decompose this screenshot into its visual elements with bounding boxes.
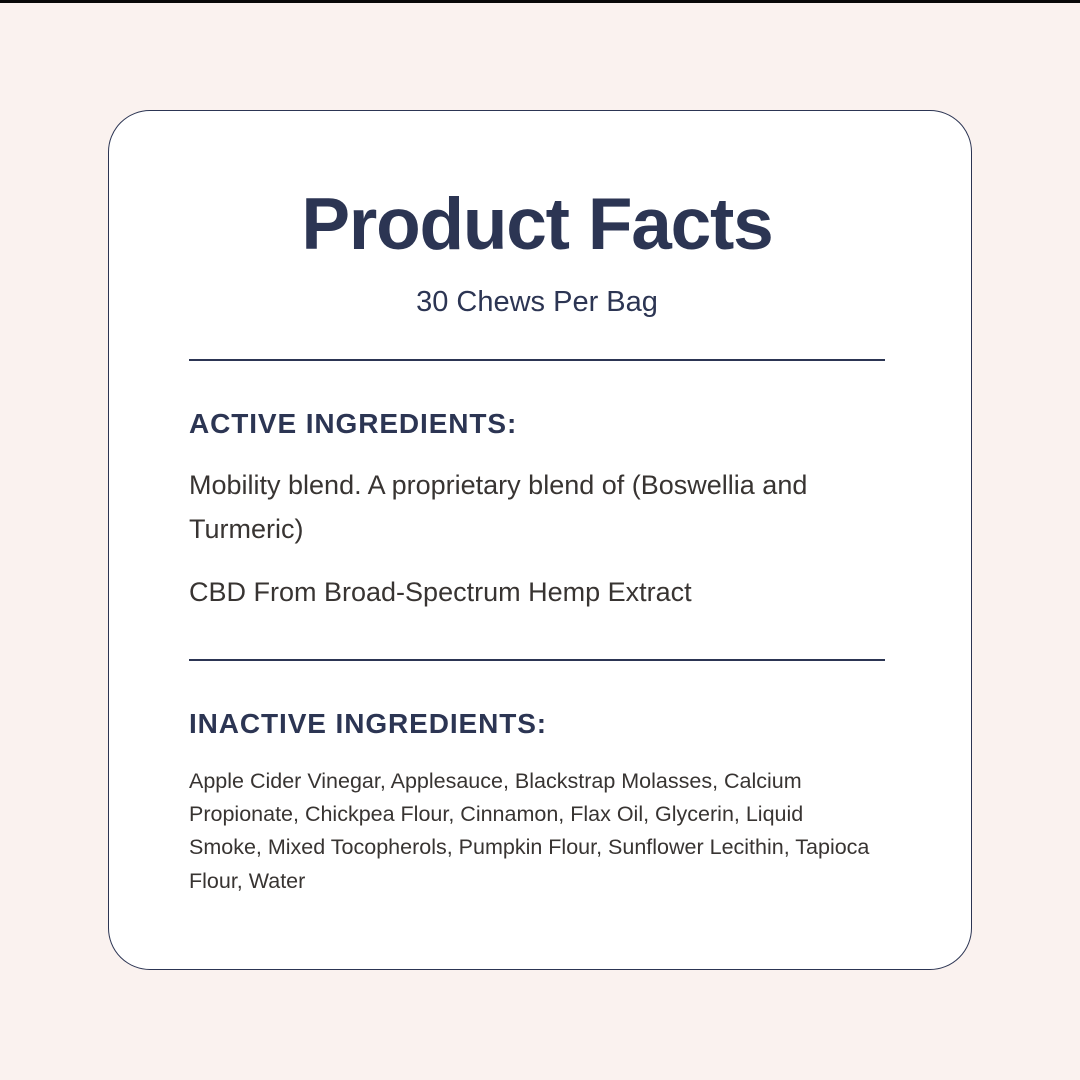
inactive-ingredients-text: Apple Cider Vinegar, Applesauce, Blackst… — [189, 741, 879, 898]
top-edge-strip — [0, 0, 1080, 3]
active-ingredient-item: CBD From Broad-Spectrum Hemp Extract — [189, 552, 885, 615]
servings-subtitle: 30 Chews Per Bag — [189, 285, 885, 320]
divider-above-active — [189, 359, 885, 361]
page-title: Product Facts — [189, 187, 885, 264]
card-content-column: Product Facts 30 Chews Per Bag ACTIVE IN… — [189, 111, 885, 969]
divider-above-inactive — [189, 659, 885, 661]
inactive-ingredients-section: INACTIVE INGREDIENTS: Apple Cider Vinega… — [189, 707, 885, 898]
inactive-ingredients-heading: INACTIVE INGREDIENTS: — [189, 707, 885, 741]
active-ingredients-heading: ACTIVE INGREDIENTS: — [189, 407, 885, 441]
active-ingredient-item: Mobility blend. A proprietary blend of (… — [189, 463, 885, 552]
active-ingredients-section: ACTIVE INGREDIENTS: Mobility blend. A pr… — [189, 407, 885, 614]
product-facts-card: Product Facts 30 Chews Per Bag ACTIVE IN… — [108, 110, 972, 970]
active-ingredients-list: Mobility blend. A proprietary blend of (… — [189, 441, 885, 615]
product-facts-stage: Product Facts 30 Chews Per Bag ACTIVE IN… — [0, 0, 1080, 1080]
